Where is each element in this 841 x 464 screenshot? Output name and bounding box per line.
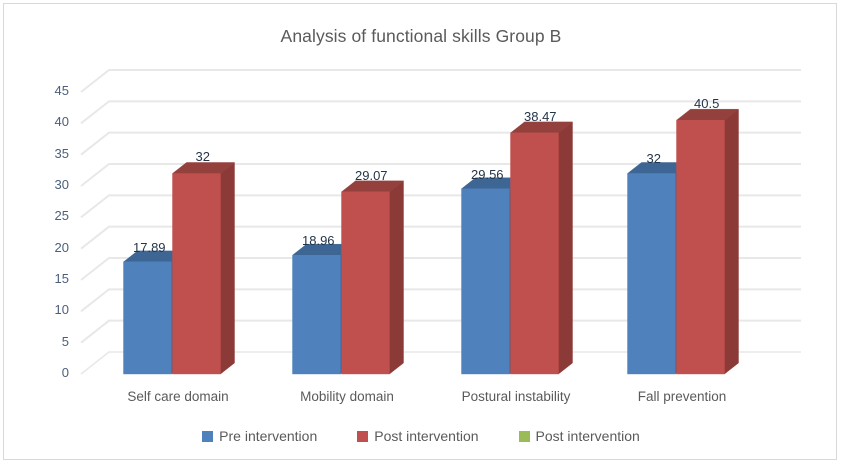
legend-swatch xyxy=(519,431,530,442)
y-axis-tick-label: 0 xyxy=(29,365,69,380)
legend-swatch xyxy=(202,431,213,442)
bar-post-intervention[interactable] xyxy=(511,122,573,374)
bar-group xyxy=(124,109,739,374)
y-axis-tick-label: 45 xyxy=(29,83,69,98)
y-axis-tick-label: 30 xyxy=(29,177,69,192)
plot-area[interactable]: 051015202530354045 Self care domainMobil… xyxy=(4,4,838,461)
data-label-post-intervention: 29.07 xyxy=(355,168,388,183)
legend-label: Post intervention xyxy=(536,428,640,444)
chart-legend[interactable]: Pre interventionPost interventionPost in… xyxy=(4,428,838,444)
y-axis-tick-label: 35 xyxy=(29,146,69,161)
y-axis-tick-label: 40 xyxy=(29,114,69,129)
legend-swatch xyxy=(357,431,368,442)
data-label-post-intervention: 38.47 xyxy=(524,109,557,124)
data-label-pre-intervention: 32 xyxy=(647,151,661,166)
chart-frame[interactable]: Analysis of functional skills Group B 05… xyxy=(3,3,837,460)
bar-post-intervention[interactable] xyxy=(342,181,404,374)
y-axis-tick-label: 20 xyxy=(29,240,69,255)
data-label-pre-intervention: 18.96 xyxy=(302,233,335,248)
y-axis-tick-label: 15 xyxy=(29,271,69,286)
data-label-pre-intervention: 29.56 xyxy=(471,167,504,182)
y-axis-tick-label: 10 xyxy=(29,302,69,317)
category-label: Fall prevention xyxy=(582,389,782,404)
legend-label: Pre intervention xyxy=(219,428,317,444)
data-label-post-intervention: 32 xyxy=(196,149,210,164)
legend-label: Post intervention xyxy=(374,428,478,444)
data-label-pre-intervention: 17.89 xyxy=(133,240,166,255)
bar-post-intervention[interactable] xyxy=(173,162,235,374)
y-axis-tick-label: 5 xyxy=(29,334,69,349)
legend-item-pre-intervention[interactable]: Pre intervention xyxy=(202,428,317,444)
bar-post-intervention[interactable] xyxy=(677,109,739,374)
data-label-post-intervention: 40.5 xyxy=(694,96,719,111)
y-axis-tick-label: 25 xyxy=(29,208,69,223)
legend-item-post-intervention-2[interactable]: Post intervention xyxy=(519,428,640,444)
legend-item-post-intervention[interactable]: Post intervention xyxy=(357,428,478,444)
